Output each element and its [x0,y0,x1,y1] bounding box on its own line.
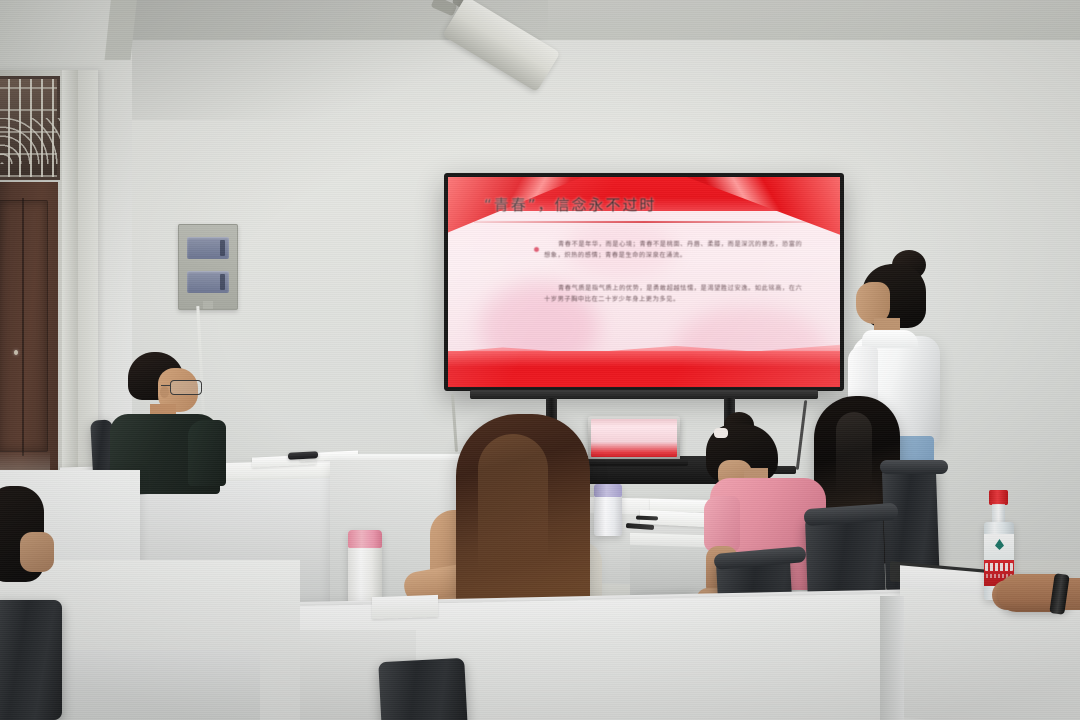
chair-back [378,658,468,720]
shoulder [20,532,54,572]
tv-stand-rail [470,390,818,399]
transom-window [0,76,60,180]
screen-glare [448,177,840,387]
switch-indicator-icon [220,274,225,290]
grille-arches [0,118,60,164]
bottle-neck [992,504,1005,524]
bottle-cap[interactable] [989,490,1008,505]
door-panel [0,200,48,452]
pen[interactable] [636,516,658,521]
chair-back [0,600,62,720]
hair-tie [714,428,728,438]
papers [372,595,438,619]
thermos-lid [348,530,382,548]
wall-switch-top[interactable] [187,237,229,259]
wall-control-panel[interactable] [178,224,238,310]
switch-indicator-icon [220,240,225,256]
panel-foot [203,301,213,309]
door-seam [22,198,24,456]
tv-screen: “青春”，信念永不过时 青春不是年华，而是心境；青春不是桃面、丹唇、柔膝，而是深… [448,177,840,387]
shoulder [188,420,226,486]
hand-reaching-for-bottle [992,568,1080,620]
entry-door[interactable] [0,182,58,490]
chair-arm [880,460,948,474]
ear [160,386,169,398]
door-knob-icon[interactable] [14,350,18,355]
eyeglasses-icon [170,380,202,395]
classroom-photo-scene: “青春”，信念永不过时 青春不是年华，而是心境；青春不是桃面、丹唇、柔膝，而是深… [0,0,1080,720]
person-attendee-bottom-left [0,486,60,606]
presentation-slide: “青春”，信念永不过时 青春不是年华，而是心境；青春不是桃面、丹唇、柔膝，而是深… [448,177,840,387]
wall-mounted-television[interactable]: “青春”，信念永不过时 青春不是年华，而是心境；青春不是桃面、丹唇、柔膝，而是深… [444,173,844,391]
door-jamb [62,70,78,490]
shirt-sleeve [704,496,740,552]
wall-switch-bottom[interactable] [187,271,229,293]
right-foreground-desk-edge [880,596,904,720]
